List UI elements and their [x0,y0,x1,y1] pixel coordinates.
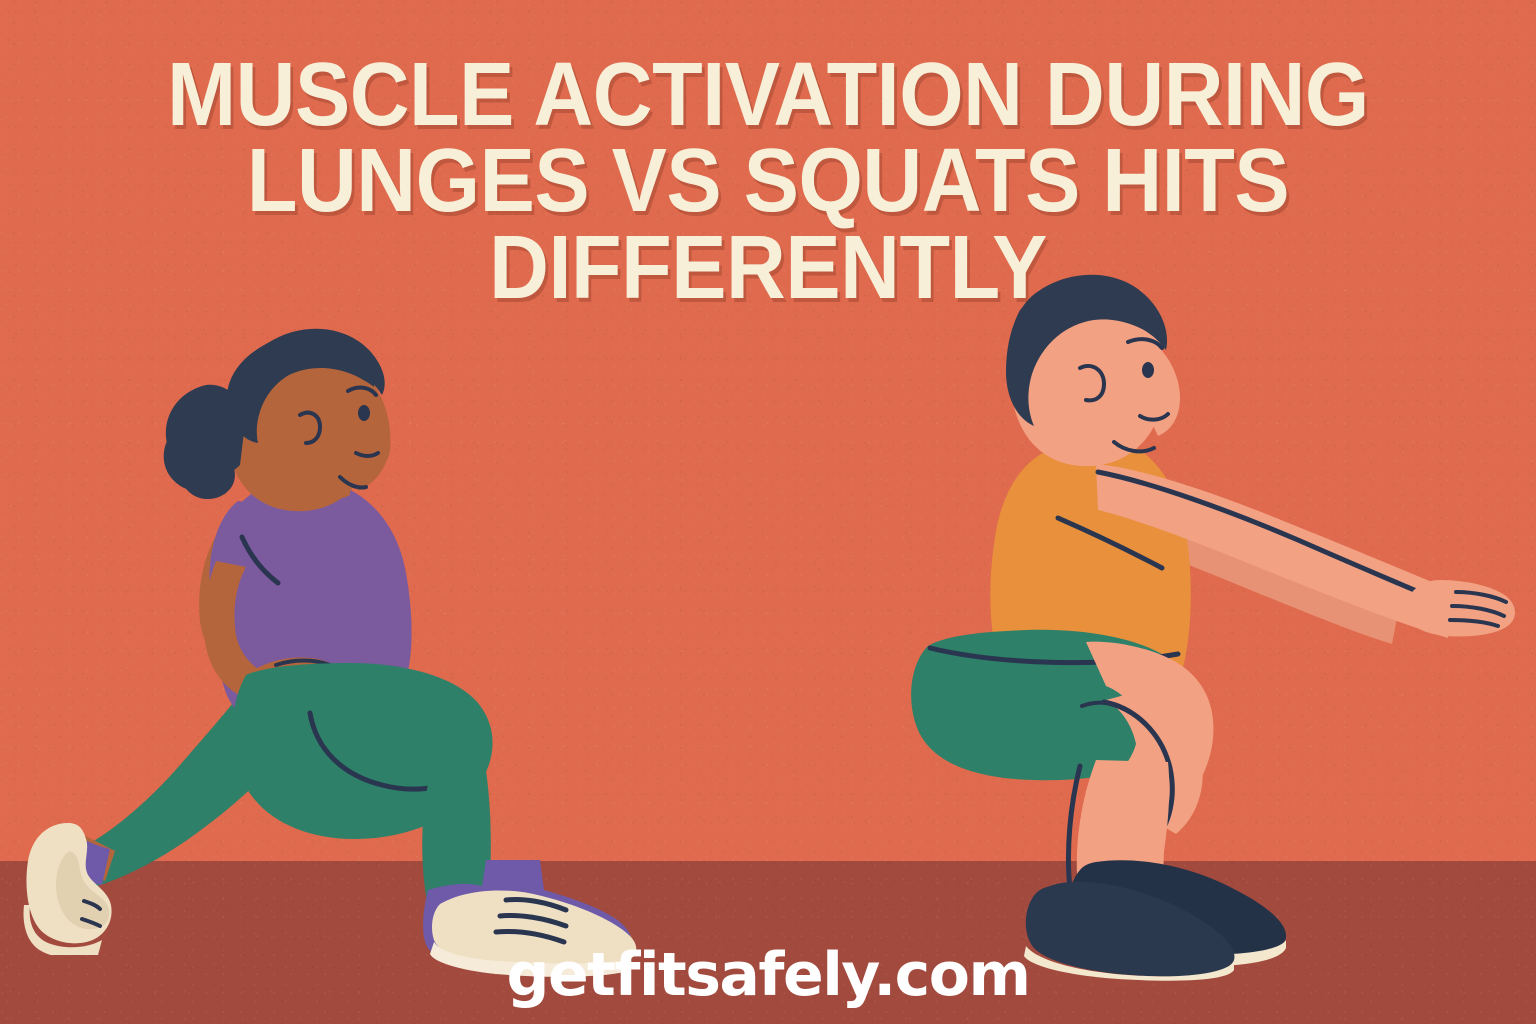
poster-canvas: .w-skin{fill:#B5653C} .w-hair{fill:#2F3B… [0,0,1536,1024]
title-line-2: LUNGES VS SQUATS HITS [61,138,1474,224]
title-line-1: MUSCLE ACTIVATION DURING [61,52,1474,138]
figure-woman-lunge: .w-skin{fill:#B5653C} .w-hair{fill:#2F3B… [10,255,570,955]
brand-watermark: getfitsafely.com [0,940,1536,1010]
title-line-3: DIFFERENTLY [61,225,1474,311]
brand-text: getfitsafely.com [507,940,1030,1010]
page-title: MUSCLE ACTIVATION DURING LUNGES VS SQUAT… [0,52,1536,311]
